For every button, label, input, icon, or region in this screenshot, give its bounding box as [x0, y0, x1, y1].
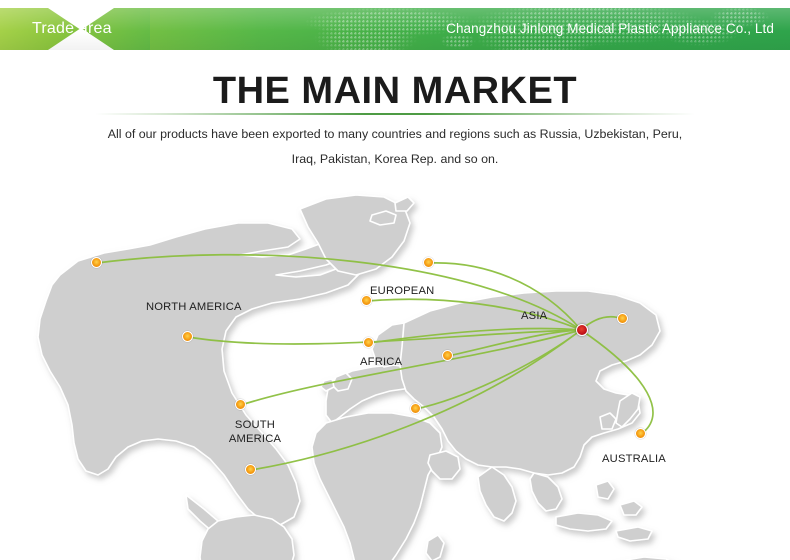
marker-north-africa[interactable]: [363, 337, 374, 348]
trade-area-label: Trade area: [32, 8, 112, 50]
marker-east-africa[interactable]: [410, 403, 421, 414]
map-label-australia: AUSTRALIA: [602, 453, 666, 465]
map-label-asia: ASIA: [521, 310, 547, 322]
marker-usa[interactable]: [182, 331, 193, 342]
marker-europe[interactable]: [361, 295, 372, 306]
map-label-north-america: NORTH AMERICA: [146, 301, 242, 313]
map-label-south-america: SOUTH AMERICA: [222, 418, 288, 446]
marker-middle-east[interactable]: [442, 350, 453, 361]
landmasses: [38, 195, 722, 560]
marker-japan[interactable]: [617, 313, 628, 324]
hub-marker-china[interactable]: [576, 324, 588, 336]
marker-peru[interactable]: [235, 399, 246, 410]
page-title: THE MAIN MARKET: [0, 70, 790, 113]
title-divider: [95, 113, 695, 115]
company-name: Changzhou Jinlong Medical Plastic Applia…: [446, 8, 774, 50]
marker-alaska[interactable]: [91, 257, 102, 268]
marker-australia[interactable]: [635, 428, 646, 439]
marker-russia[interactable]: [423, 257, 434, 268]
header-banner: Trade area Changzhou Jinlong Medical Pla…: [0, 8, 790, 50]
world-map: NORTH AMERICA EUROPEAN ASIA AFRICA SOUTH…: [0, 165, 790, 560]
marker-argentina[interactable]: [245, 464, 256, 475]
map-label-africa: AFRICA: [360, 356, 402, 368]
map-label-european: EUROPEAN: [370, 285, 434, 297]
